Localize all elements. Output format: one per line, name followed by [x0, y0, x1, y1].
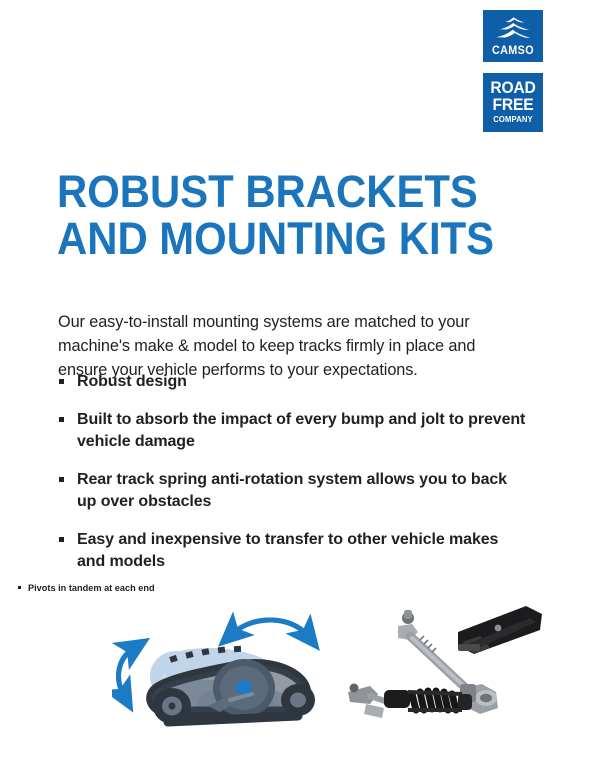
camso-chevron-mark: [495, 16, 531, 40]
badge-line-company: COMPANY: [486, 115, 540, 123]
square-bullet-icon: [59, 379, 64, 384]
badge-line-free: FREE: [485, 97, 540, 114]
list-item: Easy and inexpensive to transfer to othe…: [58, 529, 528, 573]
brand-logo-stack: CAMSO ROAD FREE COMPANY: [483, 10, 543, 132]
spring-damper-part: [348, 684, 472, 719]
feature-text: Built to absorb the impact of every bump…: [77, 411, 525, 450]
feature-text: Rear track spring anti-rotation system a…: [77, 471, 507, 510]
feature-text: Robust design: [77, 373, 187, 390]
square-bullet-icon: [59, 537, 64, 542]
pivot-arrow-vertical-down: [119, 648, 134, 696]
footnote-text: Pivots in tandem at each end: [28, 583, 155, 593]
footnote: Pivots in tandem at each end: [18, 582, 155, 594]
feature-text: Easy and inexpensive to transfer to othe…: [77, 531, 498, 570]
track-system-pivot-diagram: [112, 600, 344, 732]
camso-logo-block: CAMSO: [483, 10, 543, 62]
square-bullet-icon: [59, 417, 64, 422]
list-item: Rear track spring anti-rotation system a…: [58, 469, 528, 513]
list-item: Robust design: [58, 371, 528, 393]
list-item: Built to absorb the impact of every bump…: [58, 409, 528, 453]
logo-divider: [483, 62, 543, 73]
bracket-rail-part: [458, 606, 542, 654]
road-free-company-badge: ROAD FREE COMPANY: [483, 73, 543, 132]
imagery-band: [0, 596, 600, 746]
page-title: ROBUST BRACKETS AND MOUNTING KITS: [57, 168, 487, 262]
square-bullet-icon: [18, 586, 21, 589]
camso-wordmark: CAMSO: [485, 45, 541, 57]
feature-list: Robust design Built to absorb the impact…: [58, 371, 528, 573]
square-bullet-icon: [59, 477, 64, 482]
mounting-hardware-photo: [340, 596, 545, 728]
headline-line-1: ROBUST BRACKETS: [57, 168, 457, 215]
headline-line-2: AND MOUNTING KITS: [57, 215, 457, 262]
pivot-arrow-arc-left: [232, 620, 308, 636]
